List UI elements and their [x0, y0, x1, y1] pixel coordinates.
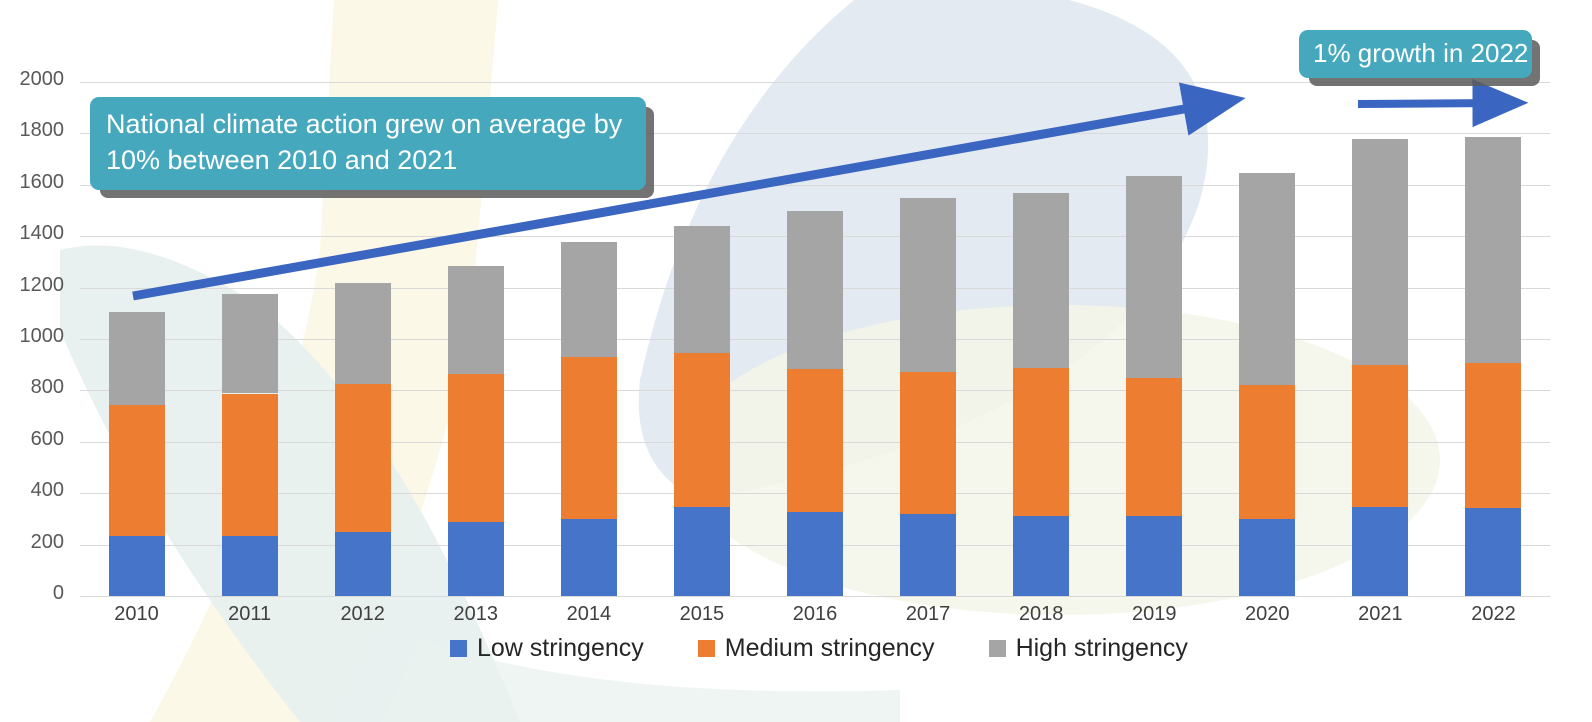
x-axis-tick-2010: 2010: [82, 604, 192, 624]
bar-segment-high-2017[interactable]: [900, 198, 956, 371]
chart-legend: Low stringencyMedium stringencyHigh stri…: [450, 636, 1188, 661]
bar-segment-med-2019[interactable]: [1126, 378, 1182, 517]
legend-item-0[interactable]: Low stringency: [450, 636, 644, 661]
legend-label: Low stringency: [477, 636, 644, 661]
bar-segment-med-2018[interactable]: [1013, 368, 1069, 516]
y-axis-tick-1200: 1200: [0, 275, 64, 295]
bar-segment-high-2018[interactable]: [1013, 193, 1069, 368]
y-axis-tick-1600: 1600: [0, 172, 64, 192]
bar-segment-high-2016[interactable]: [787, 211, 843, 369]
bar-segment-low-2014[interactable]: [561, 519, 617, 596]
legend-label: High stringency: [1016, 636, 1188, 661]
bar-2022[interactable]: [1465, 82, 1521, 596]
x-axis-tick-2015: 2015: [647, 604, 757, 624]
gridline: [80, 596, 1550, 597]
x-axis-tick-2020: 2020: [1212, 604, 1322, 624]
bar-segment-low-2021[interactable]: [1352, 507, 1408, 596]
bar-segment-low-2013[interactable]: [448, 522, 504, 596]
y-axis-tick-200: 200: [0, 532, 64, 552]
bar-segment-med-2016[interactable]: [787, 369, 843, 513]
bar-2017[interactable]: [900, 82, 956, 596]
y-axis-tick-1800: 1800: [0, 120, 64, 140]
bar-segment-med-2015[interactable]: [674, 353, 730, 507]
bar-segment-med-2013[interactable]: [448, 374, 504, 522]
y-axis-tick-600: 600: [0, 429, 64, 449]
bar-2019[interactable]: [1126, 82, 1182, 596]
bar-segment-med-2010[interactable]: [109, 405, 165, 536]
bar-2018[interactable]: [1013, 82, 1069, 596]
bar-segment-low-2020[interactable]: [1239, 519, 1295, 596]
legend-item-1[interactable]: Medium stringency: [698, 636, 935, 661]
bar-segment-low-2016[interactable]: [787, 512, 843, 596]
legend-swatch-icon: [989, 640, 1006, 657]
bar-segment-low-2012[interactable]: [335, 532, 391, 596]
bar-segment-med-2012[interactable]: [335, 384, 391, 532]
x-axis-tick-2016: 2016: [760, 604, 870, 624]
bar-segment-high-2010[interactable]: [109, 312, 165, 405]
bar-segment-med-2017[interactable]: [900, 372, 956, 514]
bar-segment-high-2022[interactable]: [1465, 137, 1521, 363]
bar-segment-high-2014[interactable]: [561, 242, 617, 357]
bar-segment-med-2014[interactable]: [561, 357, 617, 519]
y-axis-tick-800: 800: [0, 377, 64, 397]
bar-segment-med-2022[interactable]: [1465, 363, 1521, 508]
bar-segment-low-2017[interactable]: [900, 514, 956, 596]
bar-2016[interactable]: [787, 82, 843, 596]
bar-segment-low-2018[interactable]: [1013, 516, 1069, 596]
bar-segment-med-2020[interactable]: [1239, 385, 1295, 519]
x-axis-tick-2022: 2022: [1438, 604, 1548, 624]
x-axis-tick-2012: 2012: [308, 604, 418, 624]
x-axis-tick-2011: 2011: [195, 604, 305, 624]
callout-growth-2022: 1% growth in 2022: [1299, 30, 1532, 78]
callout-growth-text: National climate action grew on average …: [106, 107, 630, 178]
callout-growth-trend: National climate action grew on average …: [90, 97, 646, 190]
bar-segment-high-2021[interactable]: [1352, 139, 1408, 365]
bar-2015[interactable]: [674, 82, 730, 596]
legend-item-2[interactable]: High stringency: [989, 636, 1188, 661]
y-axis-tick-1400: 1400: [0, 223, 64, 243]
bar-segment-low-2015[interactable]: [674, 507, 730, 596]
bar-segment-high-2012[interactable]: [335, 283, 391, 384]
bar-segment-low-2010[interactable]: [109, 536, 165, 596]
bar-segment-med-2021[interactable]: [1352, 365, 1408, 507]
y-axis-tick-1000: 1000: [0, 326, 64, 346]
x-axis-tick-2013: 2013: [421, 604, 531, 624]
bar-segment-low-2011[interactable]: [222, 536, 278, 596]
bar-segment-high-2015[interactable]: [674, 226, 730, 353]
bar-segment-high-2013[interactable]: [448, 266, 504, 374]
y-axis-tick-2000: 2000: [0, 69, 64, 89]
bar-segment-low-2022[interactable]: [1465, 508, 1521, 596]
bar-2021[interactable]: [1352, 82, 1408, 596]
legend-label: Medium stringency: [725, 636, 935, 661]
bar-segment-high-2011[interactable]: [222, 294, 278, 393]
x-axis-tick-2019: 2019: [1099, 604, 1209, 624]
x-axis-tick-2018: 2018: [986, 604, 1096, 624]
x-axis-tick-2014: 2014: [534, 604, 644, 624]
y-axis-tick-0: 0: [0, 583, 64, 603]
x-axis-tick-2017: 2017: [873, 604, 983, 624]
x-axis-tick-2021: 2021: [1325, 604, 1435, 624]
bar-segment-high-2019[interactable]: [1126, 176, 1182, 378]
y-axis-tick-400: 400: [0, 480, 64, 500]
bar-segment-low-2019[interactable]: [1126, 516, 1182, 596]
legend-swatch-icon: [698, 640, 715, 657]
bar-segment-high-2020[interactable]: [1239, 173, 1295, 385]
bar-segment-med-2011[interactable]: [222, 394, 278, 536]
callout-2022-text: 1% growth in 2022: [1313, 36, 1518, 70]
bar-2020[interactable]: [1239, 82, 1295, 596]
legend-swatch-icon: [450, 640, 467, 657]
